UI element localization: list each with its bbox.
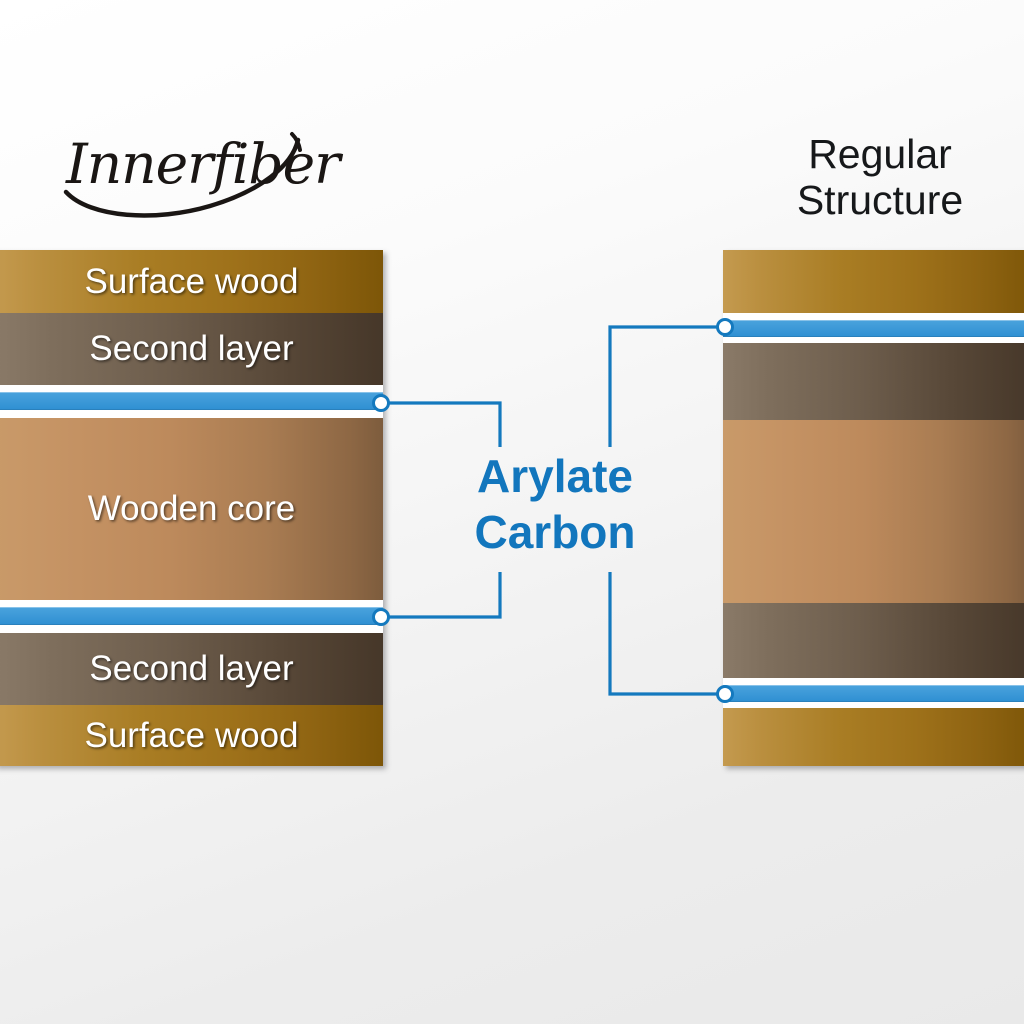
arylate-carbon-line2: Carbon bbox=[405, 504, 705, 560]
left-surface-wood-top: Surface wood bbox=[0, 250, 383, 313]
right-gap-white-lower-1 bbox=[723, 678, 1024, 685]
right-wooden-core bbox=[723, 420, 1024, 603]
right-arylate-carbon-upper bbox=[723, 320, 1024, 337]
innerfiber-structure-panel: Surface woodSecond layerWooden coreSecon… bbox=[0, 250, 383, 766]
connector-left-upper bbox=[381, 403, 500, 447]
left-arylate-carbon-lower bbox=[0, 607, 383, 625]
innerfiber-logo: Innerfiber bbox=[60, 126, 330, 226]
right-gap-white-upper-1 bbox=[723, 313, 1024, 320]
left-wooden-core: Wooden core bbox=[0, 418, 383, 600]
right-surface-wood-top bbox=[723, 250, 1024, 313]
left-surface-wood-top-label: Surface wood bbox=[0, 262, 383, 302]
right-panel-title-line2: Structure bbox=[735, 178, 1024, 224]
left-second-layer-bottom-label: Second layer bbox=[0, 649, 383, 689]
right-panel-title-line1: Regular bbox=[735, 132, 1024, 178]
left-surface-wood-bottom-label: Surface wood bbox=[0, 716, 383, 756]
left-gap-white-upper-2 bbox=[0, 410, 383, 418]
right-panel-title: Regular Structure bbox=[735, 132, 1024, 224]
left-gap-white-upper-1 bbox=[0, 385, 383, 392]
left-second-layer-top: Second layer bbox=[0, 313, 383, 385]
arylate-carbon-label: Arylate Carbon bbox=[405, 448, 705, 560]
left-second-layer-top-label: Second layer bbox=[0, 329, 383, 369]
connector-right-upper bbox=[610, 327, 725, 447]
right-second-layer-top bbox=[723, 343, 1024, 420]
left-gap-white-lower-1 bbox=[0, 600, 383, 607]
right-surface-wood-bottom bbox=[723, 708, 1024, 766]
right-second-layer-bottom bbox=[723, 603, 1024, 678]
logo-text: Innerfiber bbox=[66, 132, 339, 196]
arylate-carbon-line1: Arylate bbox=[405, 448, 705, 504]
left-wooden-core-label: Wooden core bbox=[0, 489, 383, 529]
left-gap-white-lower-2 bbox=[0, 625, 383, 633]
right-arylate-carbon-lower bbox=[723, 685, 1024, 702]
left-surface-wood-bottom: Surface wood bbox=[0, 705, 383, 766]
regular-structure-panel bbox=[723, 250, 1024, 766]
left-second-layer-bottom: Second layer bbox=[0, 633, 383, 705]
connector-left-lower bbox=[381, 572, 500, 617]
left-arylate-carbon-upper bbox=[0, 392, 383, 410]
connector-right-lower bbox=[610, 572, 725, 694]
